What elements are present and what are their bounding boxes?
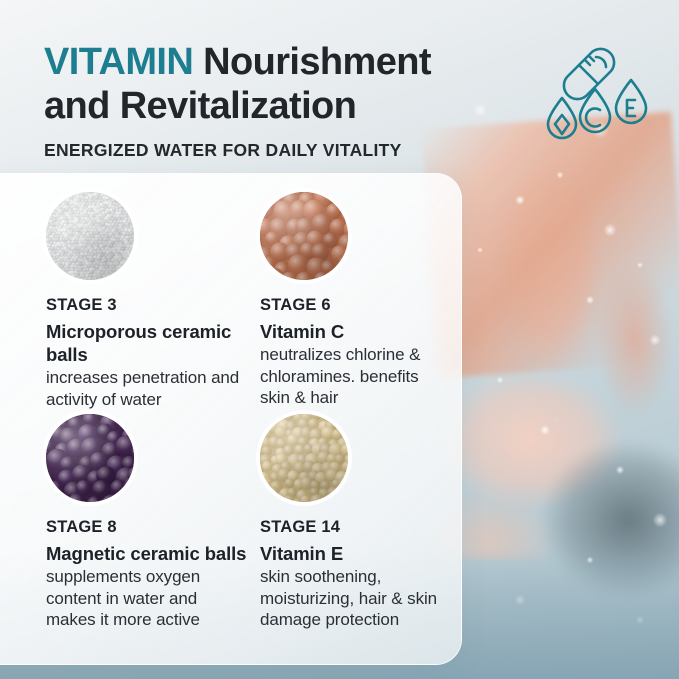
capsule-pill-icon	[564, 49, 614, 99]
title-line2: and Revitalization	[44, 85, 356, 127]
vitamin-e-balls-image	[260, 414, 348, 502]
stage-description: neutralizes chlorine & chloramines. bene…	[260, 344, 450, 409]
page-title: VITAMIN Nourishmentand Revitalization	[44, 40, 564, 128]
stage-title: Magnetic ceramic balls	[46, 542, 260, 565]
stage-title: Microporous ceramic balls	[46, 320, 260, 366]
vitamin-c-balls-image	[260, 192, 348, 280]
infographic-root: VITAMIN Nourishmentand Revitalization EN…	[0, 0, 679, 679]
stage-description: increases penetration and activity of wa…	[46, 367, 242, 410]
water-drop-mineral-icon	[548, 98, 576, 138]
water-drop-vitamin-c-icon	[580, 89, 610, 132]
water-drop-vitamin-e-icon	[616, 80, 646, 123]
title-accent-word: VITAMIN	[44, 41, 193, 83]
stages-grid: STAGE 3 Microporous ceramic balls increa…	[46, 192, 450, 652]
microporous-ceramic-balls-image	[46, 192, 134, 280]
stage-description: supplements oxygen content in water and …	[46, 566, 242, 631]
title-line1-rest: Nourishment	[203, 41, 431, 83]
stage-label: STAGE 8	[46, 518, 260, 537]
stage-card-3: STAGE 3 Microporous ceramic balls increa…	[46, 192, 260, 414]
vitamin-icon-cluster	[545, 44, 660, 149]
magnetic-ceramic-balls-image	[46, 414, 134, 502]
stage-label: STAGE 6	[260, 296, 450, 315]
stage-card-6: STAGE 6 Vitamin C neutralizes chlorine &…	[260, 192, 450, 414]
stage-card-14: STAGE 14 Vitamin E skin soothening, mois…	[260, 414, 450, 636]
stage-description: skin soothening, moisturizing, hair & sk…	[260, 566, 450, 631]
page-subtitle: ENERGIZED WATER FOR DAILY VITALITY	[44, 140, 564, 161]
header: VITAMIN Nourishmentand Revitalization EN…	[44, 40, 564, 161]
stage-card-8: STAGE 8 Magnetic ceramic balls supplemen…	[46, 414, 260, 636]
stage-label: STAGE 3	[46, 296, 260, 315]
stage-title: Vitamin C	[260, 320, 450, 343]
stage-label: STAGE 14	[260, 518, 450, 537]
stage-title: Vitamin E	[260, 542, 450, 565]
